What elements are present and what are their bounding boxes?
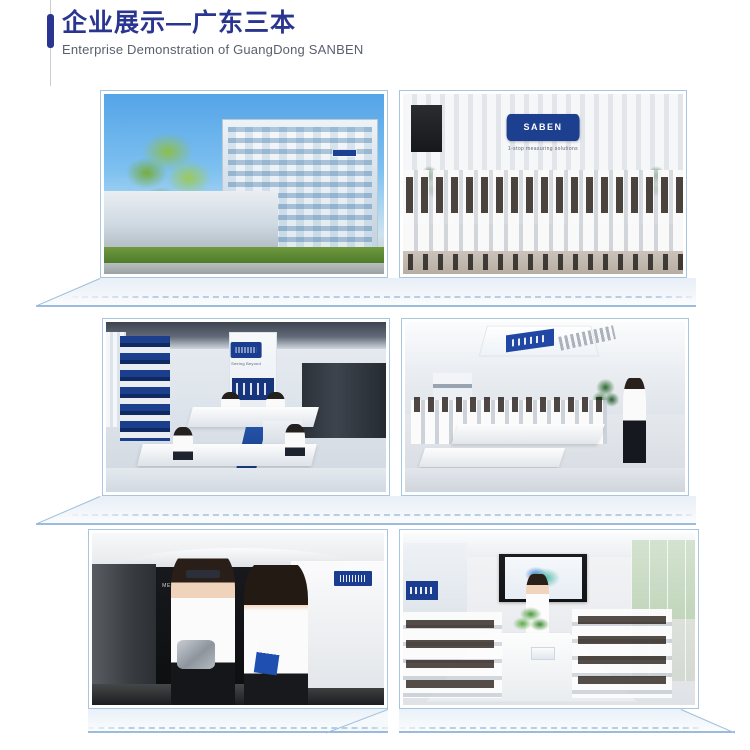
photo-frame-4[interactable] (401, 318, 689, 496)
engineer-female (244, 562, 308, 705)
showroom-floor (106, 468, 386, 492)
training-desk-rear (452, 424, 605, 444)
photo-company-group: SABEN 1-stop measuring solutions (403, 94, 683, 274)
attendee-heads-left (406, 616, 494, 688)
enterprise-demonstration-page: 企业展示—广东三本 Enterprise Demonstration of Gu… (0, 0, 750, 750)
zeiss-logo (334, 571, 372, 586)
staff-shoes (403, 254, 683, 270)
equipment-cabinets (302, 363, 386, 438)
classroom-floor (405, 468, 685, 492)
photo-zeiss-showroom: Seeing Beyond (106, 322, 386, 492)
building-sign (333, 150, 357, 157)
page-title-cn: 企业展示—广东三本 (62, 8, 363, 38)
row-dashed-divider-3-left (88, 727, 388, 729)
machine-left-door (92, 564, 156, 684)
low-building-wing (104, 191, 278, 252)
photo-conference-meeting (403, 533, 695, 705)
display-rack (120, 336, 170, 441)
saben-logo: SABEN (507, 114, 580, 141)
row-separator-shelf-2 (36, 496, 696, 530)
table-plant (511, 604, 552, 638)
metal-workpiece (177, 640, 215, 669)
photo-headquarters-building (104, 94, 384, 274)
attendee-heads-right (578, 612, 666, 688)
row-dashed-divider-2 (72, 514, 692, 516)
technician-a (173, 427, 193, 459)
photo-frame-5[interactable]: METROTOM (88, 529, 388, 709)
brochure (253, 638, 281, 675)
row-dashed-divider-1 (72, 296, 692, 298)
page-header: 企业展示—广东三本 Enterprise Demonstration of Gu… (0, 0, 750, 86)
trainee-heads (411, 397, 607, 412)
photo-frame-3[interactable]: Seeing Beyond (102, 318, 390, 496)
header-text-block: 企业展示—广东三本 Enterprise Demonstration of Gu… (62, 8, 363, 59)
instructor (623, 378, 645, 463)
page-title-en: Enterprise Demonstration of GuangDong SA… (62, 41, 363, 59)
photo-training-classroom (405, 322, 685, 492)
saben-tagline: 1-stop measuring solutions (508, 146, 578, 152)
staff-heads (403, 177, 683, 213)
row-separator-shelf-3-left (88, 709, 388, 739)
row-separator-shelf-1 (36, 278, 696, 312)
header-accent-bar (47, 14, 54, 48)
photo-frame-1[interactable] (100, 90, 388, 278)
photo-metrotom-demonstration: METROTOM (92, 533, 384, 705)
row-dashed-divider-3-right (399, 727, 699, 729)
zeiss-tagline: Seeing Beyond (231, 361, 261, 366)
training-desk-front (419, 448, 565, 467)
photo-frame-2[interactable]: SABEN 1-stop measuring solutions (399, 90, 687, 278)
roadway (104, 263, 384, 274)
zeiss-logo (231, 342, 262, 357)
technician-d (285, 424, 305, 456)
engineer-male (171, 554, 235, 705)
zeiss-wall-banner (406, 581, 438, 600)
tissue-box (531, 647, 554, 661)
wall-monitor (411, 105, 442, 152)
saben-logo-text: SABEN (523, 122, 562, 132)
row-separator-shelf-3-right (399, 709, 735, 739)
photo-frame-6[interactable] (399, 529, 699, 709)
